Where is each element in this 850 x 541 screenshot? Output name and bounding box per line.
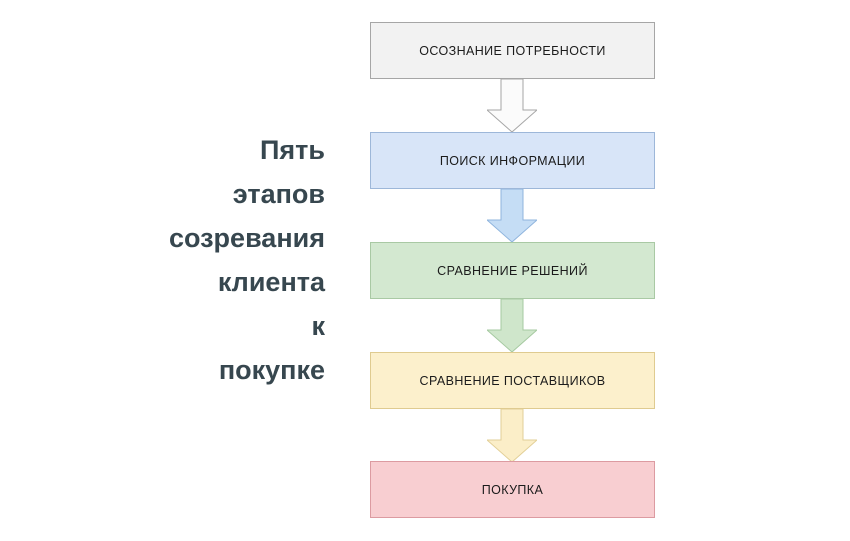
flow-stage-2-label: ПОИСК ИНФОРМАЦИИ bbox=[440, 154, 585, 168]
down-arrow-icon-2 bbox=[487, 189, 537, 242]
page-title: Пять этапов созревания клиента к покупке bbox=[110, 128, 325, 392]
title-line-3: созревания bbox=[110, 216, 325, 260]
down-arrow-icon-3-svg bbox=[487, 299, 537, 352]
flow-column: ОСОЗНАНИЕ ПОТРЕБНОСТИ ПОИСК ИНФОРМАЦИИ С… bbox=[370, 22, 655, 519]
title-line-4: клиента bbox=[110, 260, 325, 304]
arrow-shape-4 bbox=[487, 409, 537, 462]
flow-stage-1[interactable]: ОСОЗНАНИЕ ПОТРЕБНОСТИ bbox=[370, 22, 655, 79]
diagram-canvas: Пять этапов созревания клиента к покупке… bbox=[0, 0, 850, 541]
flow-stage-4-label: СРАВНЕНИЕ ПОСТАВЩИКОВ bbox=[420, 374, 606, 388]
flow-stage-5-label: ПОКУПКА bbox=[482, 483, 543, 497]
flow-stage-5[interactable]: ПОКУПКА bbox=[370, 461, 655, 518]
arrow-shape-2 bbox=[487, 189, 537, 242]
flow-stage-3-label: СРАВНЕНИЕ РЕШЕНИЙ bbox=[437, 264, 588, 278]
down-arrow-icon-4-svg bbox=[487, 409, 537, 462]
title-line-2: этапов bbox=[110, 172, 325, 216]
arrow-shape-3 bbox=[487, 299, 537, 352]
down-arrow-icon-2-svg bbox=[487, 189, 537, 242]
arrow-shape-1 bbox=[487, 79, 537, 132]
down-arrow-icon-1-svg bbox=[487, 79, 537, 132]
down-arrow-icon-3 bbox=[487, 299, 537, 352]
title-line-1: Пять bbox=[110, 128, 325, 172]
flow-stage-1-label: ОСОЗНАНИЕ ПОТРЕБНОСТИ bbox=[419, 44, 606, 58]
down-arrow-icon-1 bbox=[487, 79, 537, 132]
flow-stage-4[interactable]: СРАВНЕНИЕ ПОСТАВЩИКОВ bbox=[370, 352, 655, 409]
title-line-5: к bbox=[110, 304, 325, 348]
flow-stage-2[interactable]: ПОИСК ИНФОРМАЦИИ bbox=[370, 132, 655, 189]
title-line-6: покупке bbox=[110, 348, 325, 392]
down-arrow-icon-4 bbox=[487, 409, 537, 462]
flow-stage-3[interactable]: СРАВНЕНИЕ РЕШЕНИЙ bbox=[370, 242, 655, 299]
